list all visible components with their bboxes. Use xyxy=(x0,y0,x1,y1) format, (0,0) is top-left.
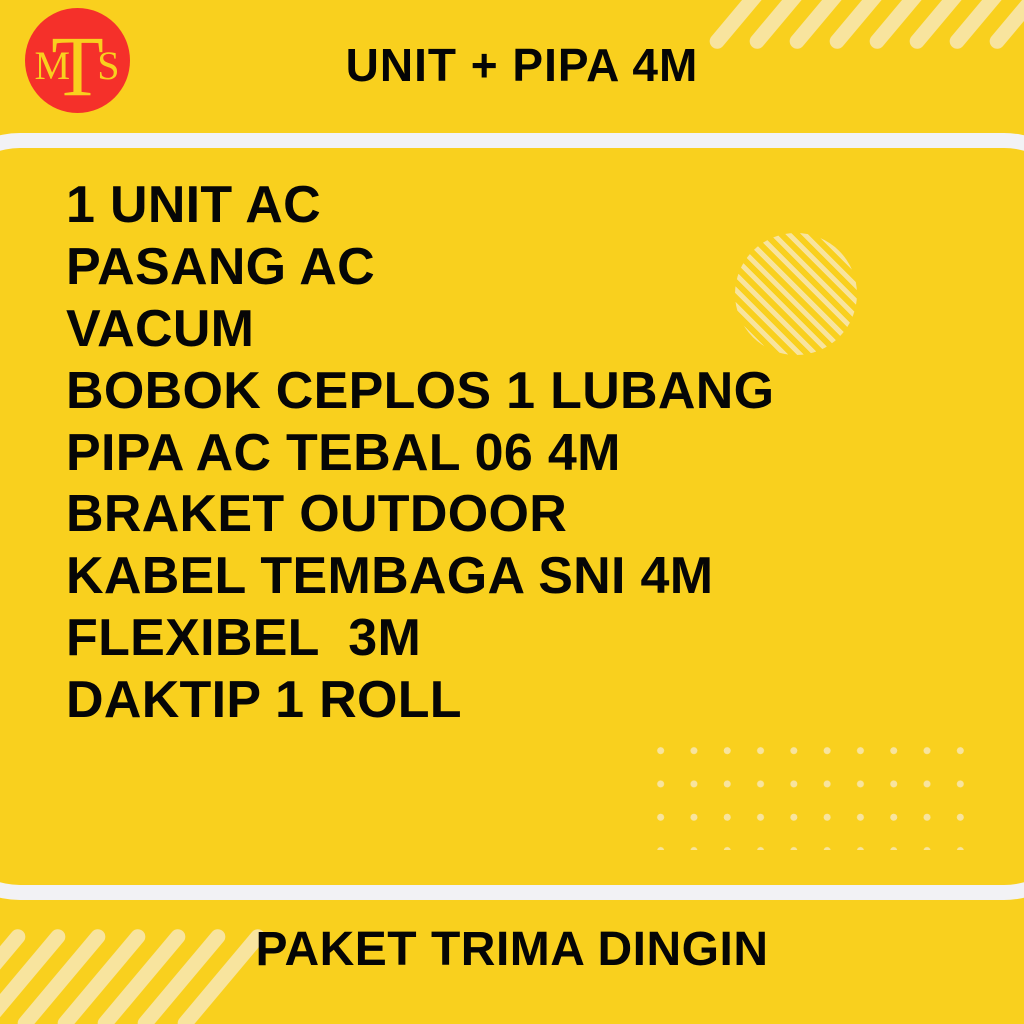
list-item: BRAKET OUTDOOR xyxy=(66,484,774,546)
spec-panel: 1 UNIT AC PASANG AC VACUM BOBOK CEPLOS 1… xyxy=(0,155,1024,885)
page-title: UNIT + PIPA 4M xyxy=(0,38,1024,92)
list-item: BOBOK CEPLOS 1 LUBANG xyxy=(66,361,774,423)
promo-poster: M S T UNIT + PIPA 4M 1 UNIT AC PASANG AC… xyxy=(0,0,1024,1024)
list-item: VACUM xyxy=(66,299,774,361)
list-item: PIPA AC TEBAL 06 4M xyxy=(66,423,774,485)
list-item: PASANG AC xyxy=(66,237,774,299)
list-item: DAKTIP 1 ROLL xyxy=(66,670,774,732)
spec-list: 1 UNIT AC PASANG AC VACUM BOBOK CEPLOS 1… xyxy=(66,175,774,732)
footer-title: PAKET TRIMA DINGIN xyxy=(0,922,1024,977)
list-item: FLEXIBEL 3M xyxy=(66,608,774,670)
poster-footer: PAKET TRIMA DINGIN xyxy=(0,894,1024,1024)
list-item: 1 UNIT AC xyxy=(66,175,774,237)
list-item: KABEL TEMBAGA SNI 4M xyxy=(66,546,774,608)
poster-header: M S T UNIT + PIPA 4M xyxy=(0,0,1024,132)
